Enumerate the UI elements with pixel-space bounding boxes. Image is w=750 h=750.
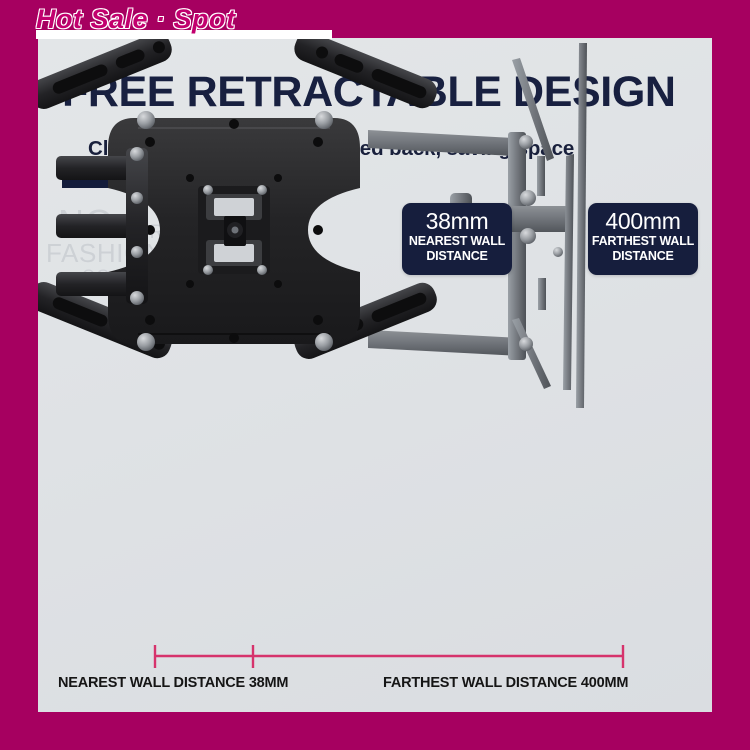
caption-farthest-wall-distance: FARTHEST WALL DISTANCE 400MM [383, 675, 628, 691]
badge-value: 38mm [402, 208, 512, 234]
badge-farthest-wall-distance: 400mm FARTHEST WALL DISTANCE [588, 203, 698, 275]
poster-frame: NO FIREKITCHEN FASHION COOKING FREE RETR… [0, 0, 750, 750]
ribbon-label: Hot Sale · Spot [36, 1, 328, 38]
badge-caption-line1: FARTHEST WALL [588, 234, 698, 249]
badge-caption-line2: DISTANCE [588, 249, 698, 264]
content-panel: NO FIREKITCHEN FASHION COOKING FREE RETR… [38, 38, 712, 712]
badge-caption-line1: NEAREST WALL [402, 234, 512, 249]
badge-nearest-wall-distance: 38mm NEAREST WALL DISTANCE [402, 203, 512, 275]
measurement-scale [38, 38, 712, 712]
badge-value: 400mm [588, 208, 698, 234]
badge-caption-line2: DISTANCE [402, 249, 512, 264]
caption-nearest-wall-distance: NEAREST WALL DISTANCE 38MM [58, 675, 288, 691]
